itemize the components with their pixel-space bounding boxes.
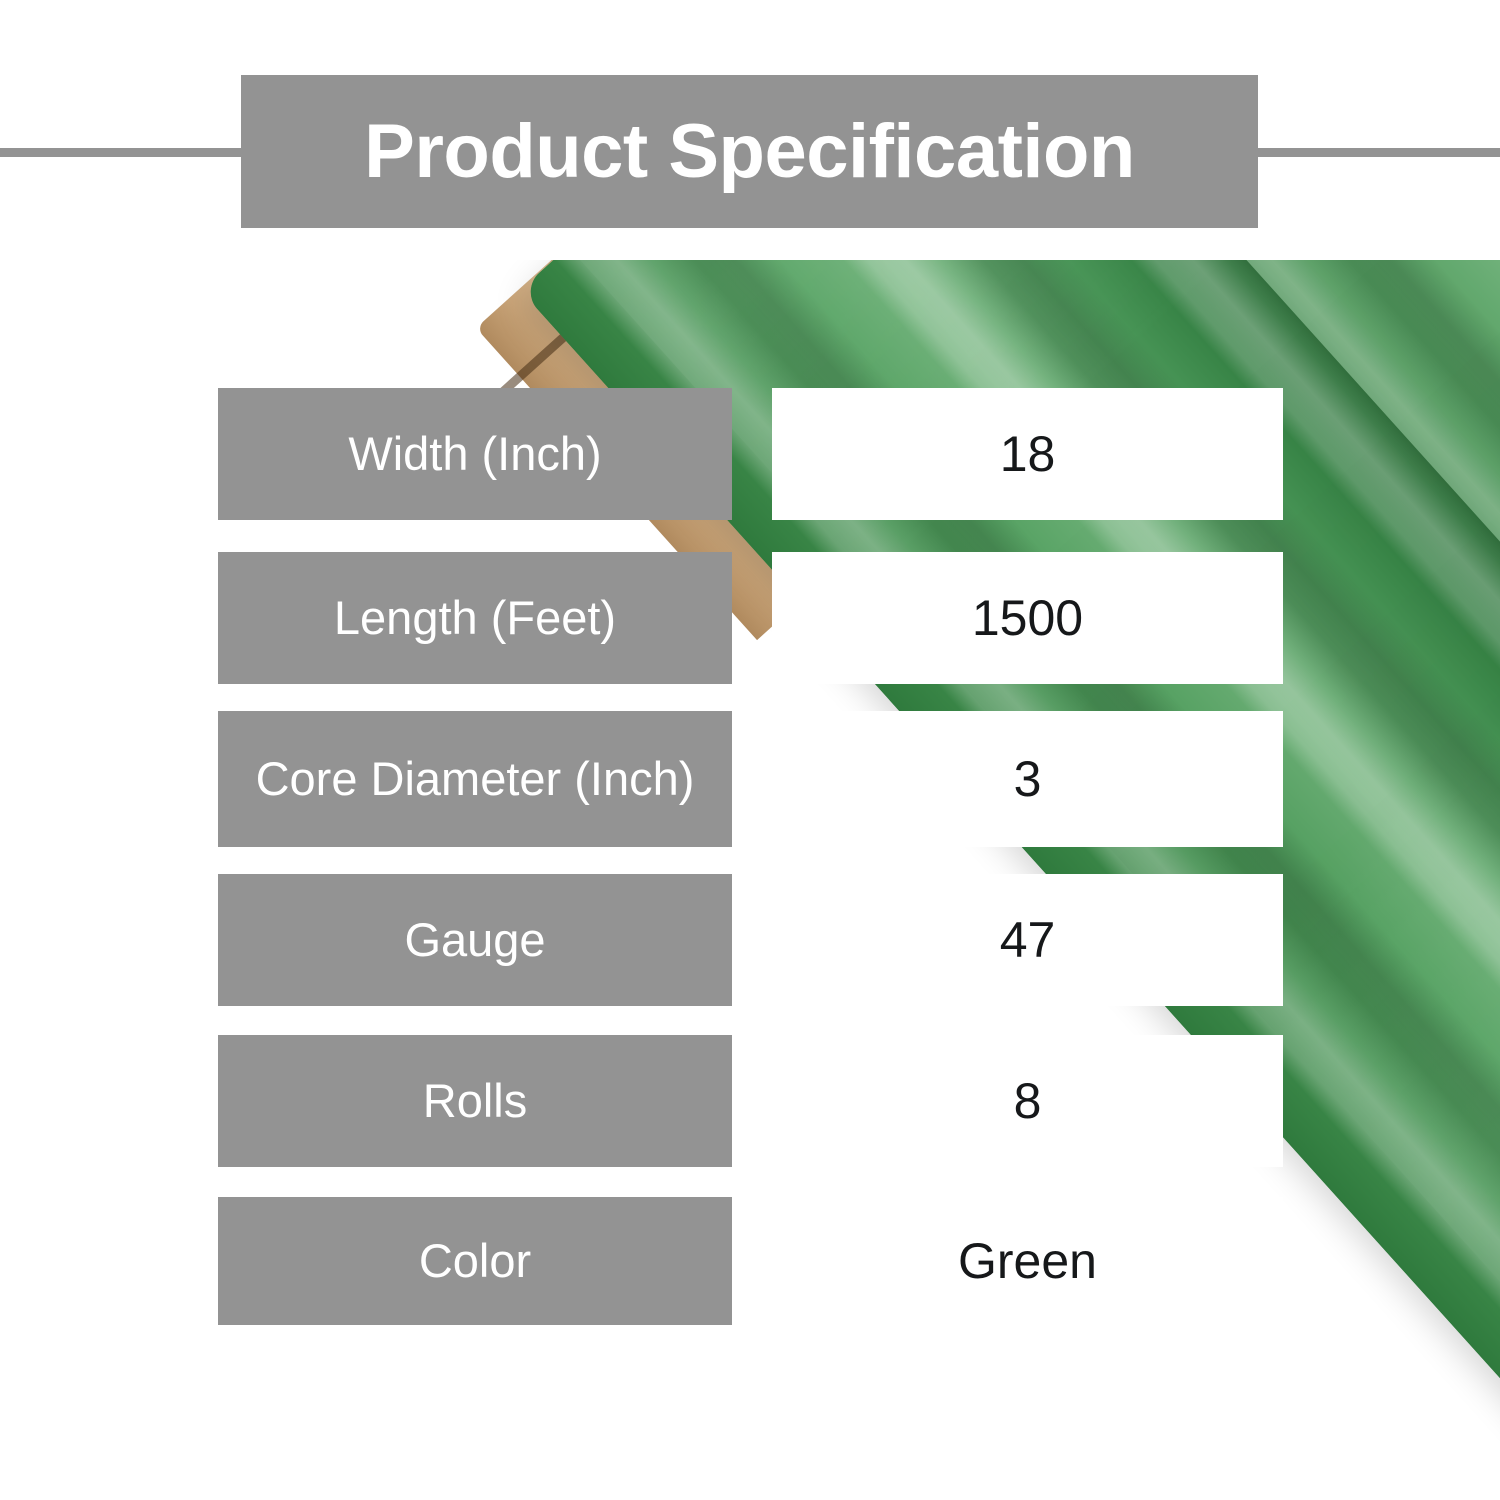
spec-value-cell: Green [772, 1197, 1283, 1325]
spec-table: Width (Inch) 18 Length (Feet) 1500 Core … [0, 0, 1500, 1500]
spec-label-cell: Color [218, 1197, 732, 1325]
spec-label-text: Gauge [394, 915, 555, 964]
spec-label-text: Color [409, 1236, 541, 1285]
spec-value-text: 47 [1000, 914, 1056, 967]
spec-value-cell: 47 [772, 874, 1283, 1006]
spec-label-text: Width (Inch) [338, 429, 611, 478]
spec-label-cell: Gauge [218, 874, 732, 1006]
spec-label-text: Core Diameter (Inch) [246, 754, 705, 803]
spec-value-cell: 8 [772, 1035, 1283, 1167]
spec-value-cell: 18 [772, 388, 1283, 520]
spec-value-cell: 1500 [772, 552, 1283, 684]
spec-label-cell: Width (Inch) [218, 388, 732, 520]
spec-value-text: 3 [1014, 753, 1042, 806]
spec-value-text: 18 [1000, 428, 1056, 481]
spec-value-cell: 3 [772, 711, 1283, 847]
spec-value-text: Green [958, 1235, 1097, 1288]
spec-value-text: 8 [1014, 1075, 1042, 1128]
spec-label-cell: Core Diameter (Inch) [218, 711, 732, 847]
spec-label-cell: Rolls [218, 1035, 732, 1167]
spec-value-text: 1500 [972, 592, 1083, 645]
spec-label-text: Rolls [413, 1076, 537, 1125]
spec-label-text: Length (Feet) [324, 593, 626, 642]
spec-label-cell: Length (Feet) [218, 552, 732, 684]
product-specification-infographic: Product Specification Width (Inch) 18 Le… [0, 0, 1500, 1500]
